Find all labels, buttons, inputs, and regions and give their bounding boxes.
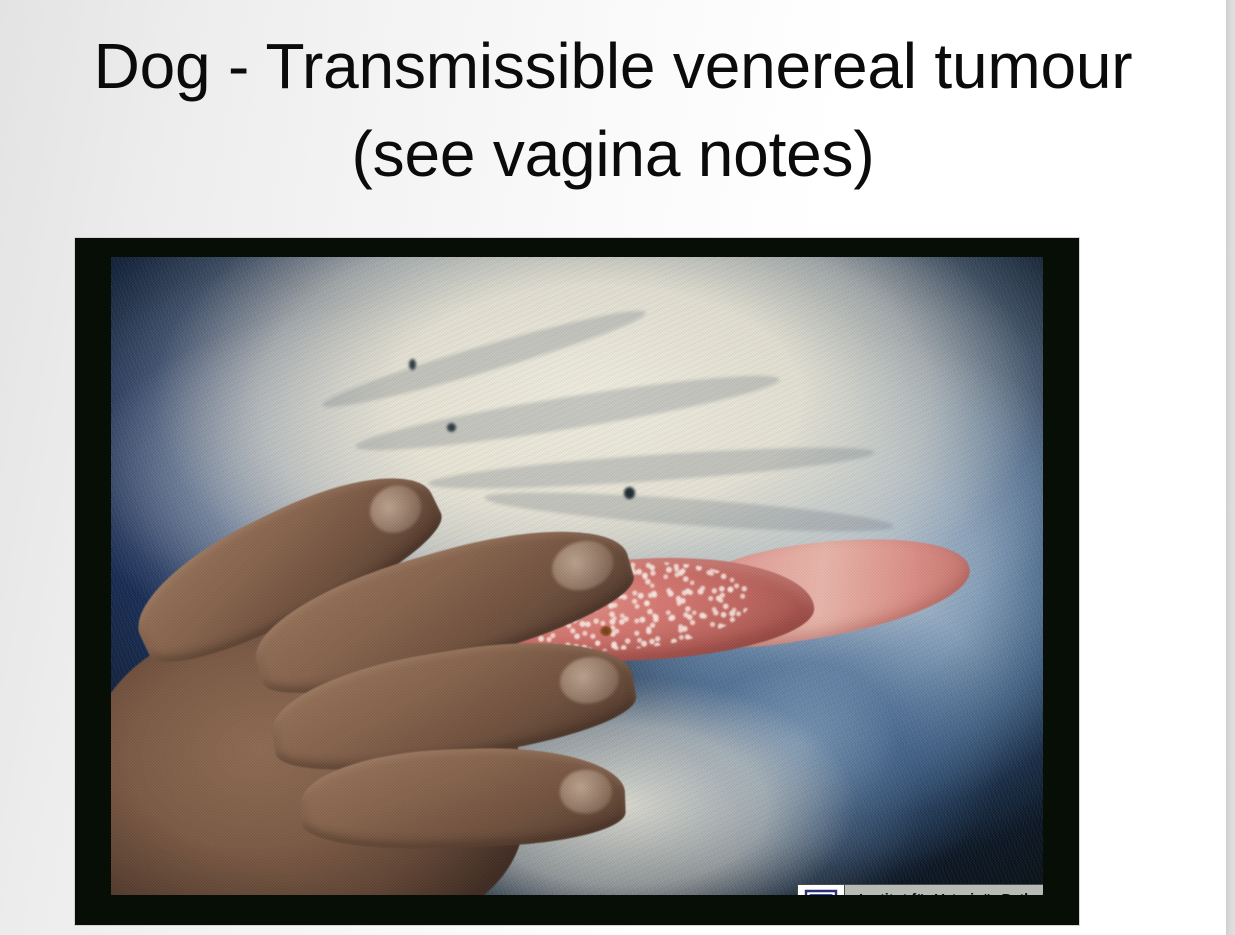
- watermark-text: Institut für Veterinär-Pathologie Uni. G…: [845, 885, 1043, 895]
- page-title: Dog - Transmissible venereal tumour (see…: [40, 22, 1186, 198]
- institute-watermark: Institut für Veterinär-Pathologie Uni. G…: [797, 884, 1043, 895]
- shield-logo-icon: [798, 885, 845, 895]
- clinical-photograph: Institut für Veterinär-Pathologie Uni. G…: [75, 238, 1079, 925]
- title-line-2: (see vagina notes): [40, 110, 1186, 198]
- slide-viewport: Dog - Transmissible venereal tumour (see…: [0, 0, 1235, 935]
- watermark-line-1: Institut für Veterinär-Pathologie: [859, 891, 1043, 895]
- photograph-image: Institut für Veterinär-Pathologie Uni. G…: [111, 257, 1043, 895]
- title-line-1: Dog - Transmissible venereal tumour: [40, 22, 1186, 110]
- page-edge-band: [1226, 0, 1235, 935]
- photo-film-grain: [111, 257, 1043, 895]
